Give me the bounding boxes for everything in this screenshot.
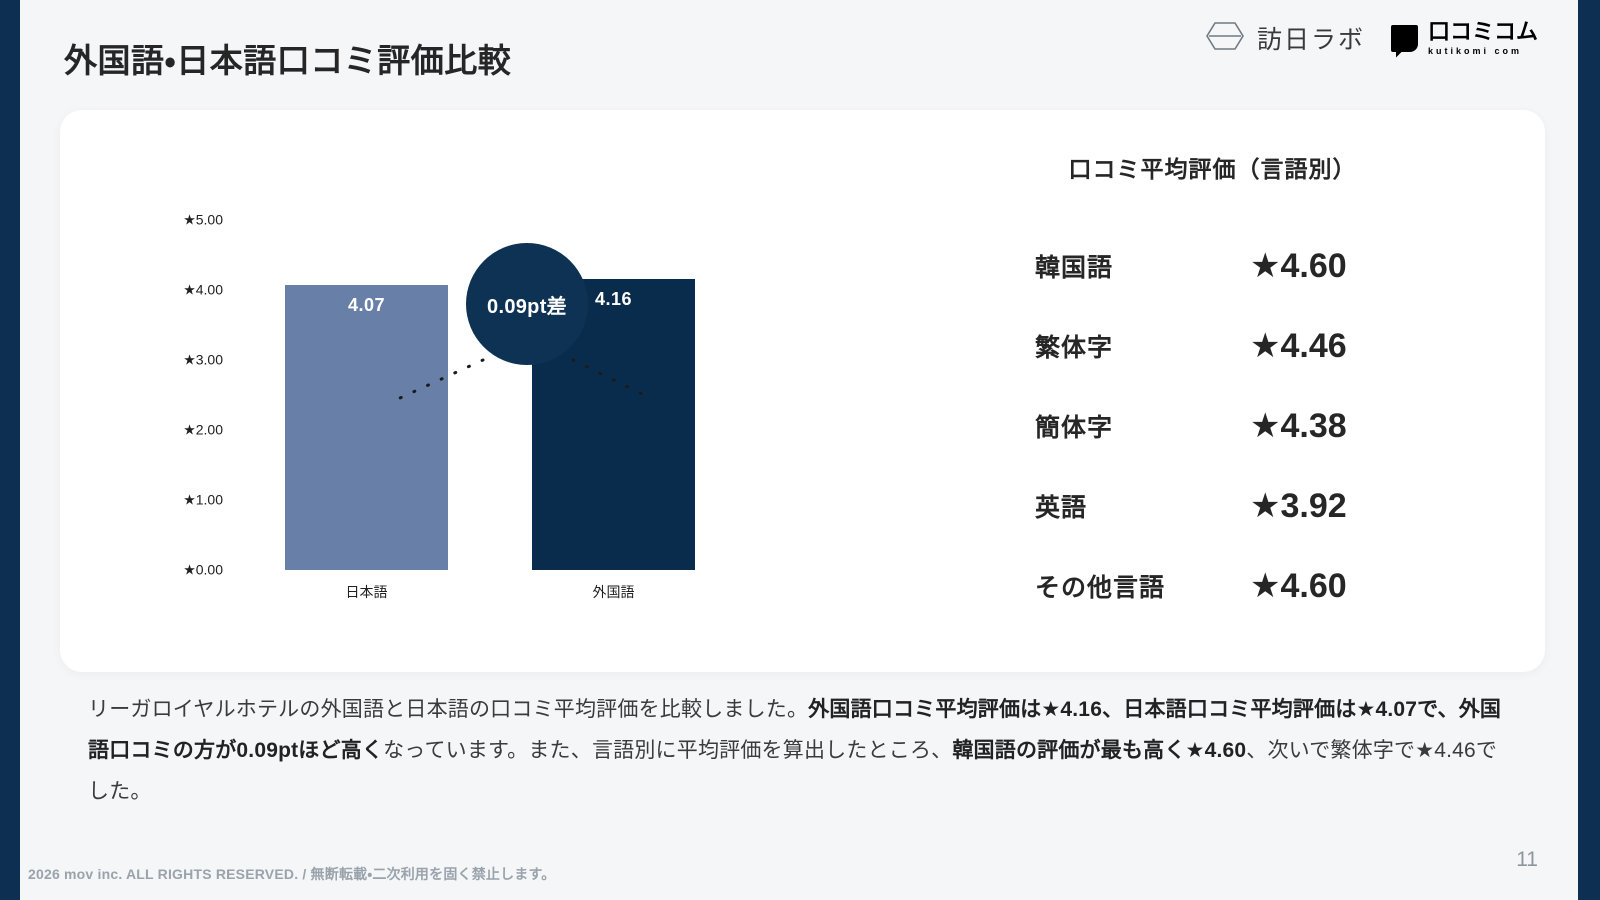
logo-kutikomi-text: 口コミコム [1428,21,1538,43]
bar-japanese[interactable]: 4.07 [285,285,448,570]
language-score-other: ★4.60 [1250,566,1347,606]
logo-kutikomi-subtext: kutikomi com [1428,47,1538,56]
slide-header: 外国語・日本語口コミ評価比較 訪日ラボ 口コミコム kutikomi com [20,0,1578,110]
slide-canvas: 外国語・日本語口コミ評価比較 訪日ラボ 口コミコム kutikomi com [20,0,1578,900]
bar-value-japanese: 4.07 [348,295,385,315]
language-score-traditional-chinese: ★4.46 [1250,326,1347,366]
right-accent-bar [1578,0,1600,900]
bar-chart: 0.09pt差 ★5.00 ★4.00 ★3.00 ★2.00 ★1.00 ★0… [60,110,940,672]
left-accent-bar [0,0,20,900]
language-row-english: 英語 ★3.92 [955,466,1500,546]
language-score-english: ★3.92 [1250,486,1347,526]
hexagon-icon [1205,21,1245,56]
y-tick-1: ★1.00 [183,492,223,509]
x-label-foreign: 外国語 [532,582,695,602]
language-row-traditional-chinese: 繁体字 ★4.46 [955,306,1500,386]
language-row-simplified-chinese: 簡体字 ★4.38 [955,386,1500,466]
speech-bubble-icon [1391,25,1418,52]
bar-group-japanese: 4.07 日本語 [285,220,448,570]
logo-honichi-lab: 訪日ラボ [1205,20,1365,56]
copyright-notice: 2026 mov inc. ALL RIGHTS RESERVED. / 無断転… [28,864,556,884]
y-tick-0: ★0.00 [183,562,223,579]
language-name-other: その他言語 [1035,568,1250,604]
bar-value-foreign: 4.16 [595,289,632,309]
page-number: 11 [1516,848,1538,872]
y-tick-4: ★4.00 [183,282,223,299]
logo-honichi-lab-text: 訪日ラボ [1257,20,1365,56]
x-label-japanese: 日本語 [285,582,448,602]
logo-kutikomi: 口コミコム kutikomi com [1391,21,1538,56]
language-panel-title: 口コミ平均評価（言語別） [955,150,1500,184]
content-card: 0.09pt差 ★5.00 ★4.00 ★3.00 ★2.00 ★1.00 ★0… [60,110,1545,672]
language-name-simplified-chinese: 簡体字 [1035,408,1250,444]
difference-badge: 0.09pt差 [466,243,588,365]
language-row-other: その他言語 ★4.60 [955,546,1500,626]
page-title: 外国語・日本語口コミ評価比較 [64,34,511,82]
brand-logos: 訪日ラボ 口コミコム kutikomi com [1205,20,1538,56]
language-score-korean: ★4.60 [1250,246,1347,286]
language-name-traditional-chinese: 繁体字 [1035,328,1250,364]
y-tick-5: ★5.00 [183,212,223,229]
language-score-simplified-chinese: ★4.38 [1250,406,1347,446]
y-axis: ★5.00 ★4.00 ★3.00 ★2.00 ★1.00 ★0.00 [145,220,223,570]
plot-area: ★5.00 ★4.00 ★3.00 ★2.00 ★1.00 ★0.00 4.07… [145,220,785,570]
language-name-korean: 韓国語 [1035,248,1250,284]
language-name-english: 英語 [1035,488,1250,524]
summary-paragraph: リーガロイヤルホテルの外国語と日本語の口コミ平均評価を比較しました。外国語口コミ… [88,690,1506,813]
language-row-korean: 韓国語 ★4.60 [955,226,1500,306]
y-tick-3: ★3.00 [183,352,223,369]
language-score-panel: 口コミ平均評価（言語別） 韓国語 ★4.60 繁体字 ★4.46 簡体字 ★4.… [955,150,1500,626]
y-tick-2: ★2.00 [183,422,223,439]
